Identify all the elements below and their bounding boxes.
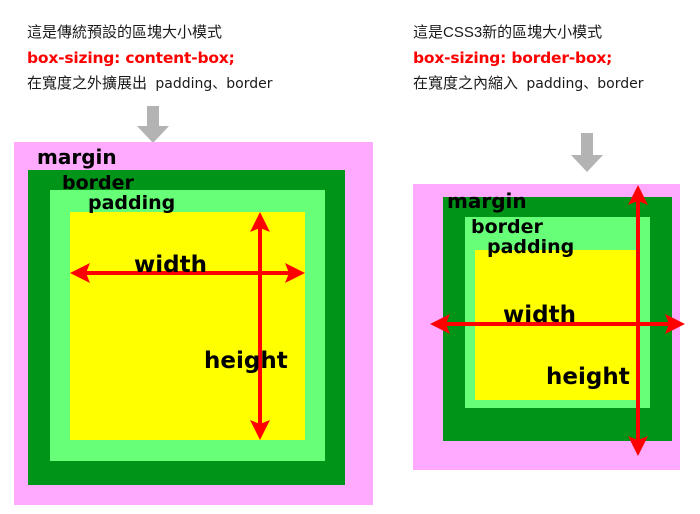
dimension-arrows-left xyxy=(14,142,373,505)
caption-right-line1: 這是CSS3新的區塊大小模式 xyxy=(413,20,643,45)
flow-arrow-down-left xyxy=(136,106,170,144)
caption-left-line3-mono: padding、border xyxy=(155,76,272,92)
caption-left-line1: 這是傳統預設的區塊大小模式 xyxy=(27,20,272,45)
label-width-left: width xyxy=(134,254,207,277)
diagram-canvas: 這是傳統預設的區塊大小模式 box-sizing: content-box; 在… xyxy=(0,0,700,514)
label-height-left: height xyxy=(204,350,288,373)
caption-left-code: box-sizing: content-box; xyxy=(27,45,272,71)
arrow-down-icon xyxy=(570,133,604,173)
caption-right-line3: 在寬度之內縮入 padding、border xyxy=(413,71,643,97)
caption-border-box: 這是CSS3新的區塊大小模式 box-sizing: border-box; 在… xyxy=(413,20,643,97)
height-arrow-right xyxy=(628,185,648,456)
box-model-border-box: margin border padding width height xyxy=(413,184,680,470)
caption-content-box: 這是傳統預設的區塊大小模式 box-sizing: content-box; 在… xyxy=(27,20,272,97)
flow-arrow-down-right xyxy=(570,133,604,173)
caption-left-line3-prefix: 在寬度之外擴展出 xyxy=(27,75,147,92)
label-height-right: height xyxy=(546,366,630,389)
caption-right-code: box-sizing: border-box; xyxy=(413,45,643,71)
caption-left-line3: 在寬度之外擴展出 padding、border xyxy=(27,71,272,97)
label-width-right: width xyxy=(503,304,576,327)
height-arrow-left xyxy=(250,212,270,440)
caption-right-line3-mono: padding、border xyxy=(526,76,643,92)
box-model-content-box: margin border padding width height xyxy=(14,142,373,505)
caption-right-line3-prefix: 在寬度之內縮入 xyxy=(413,75,518,92)
arrow-down-icon xyxy=(136,106,170,144)
